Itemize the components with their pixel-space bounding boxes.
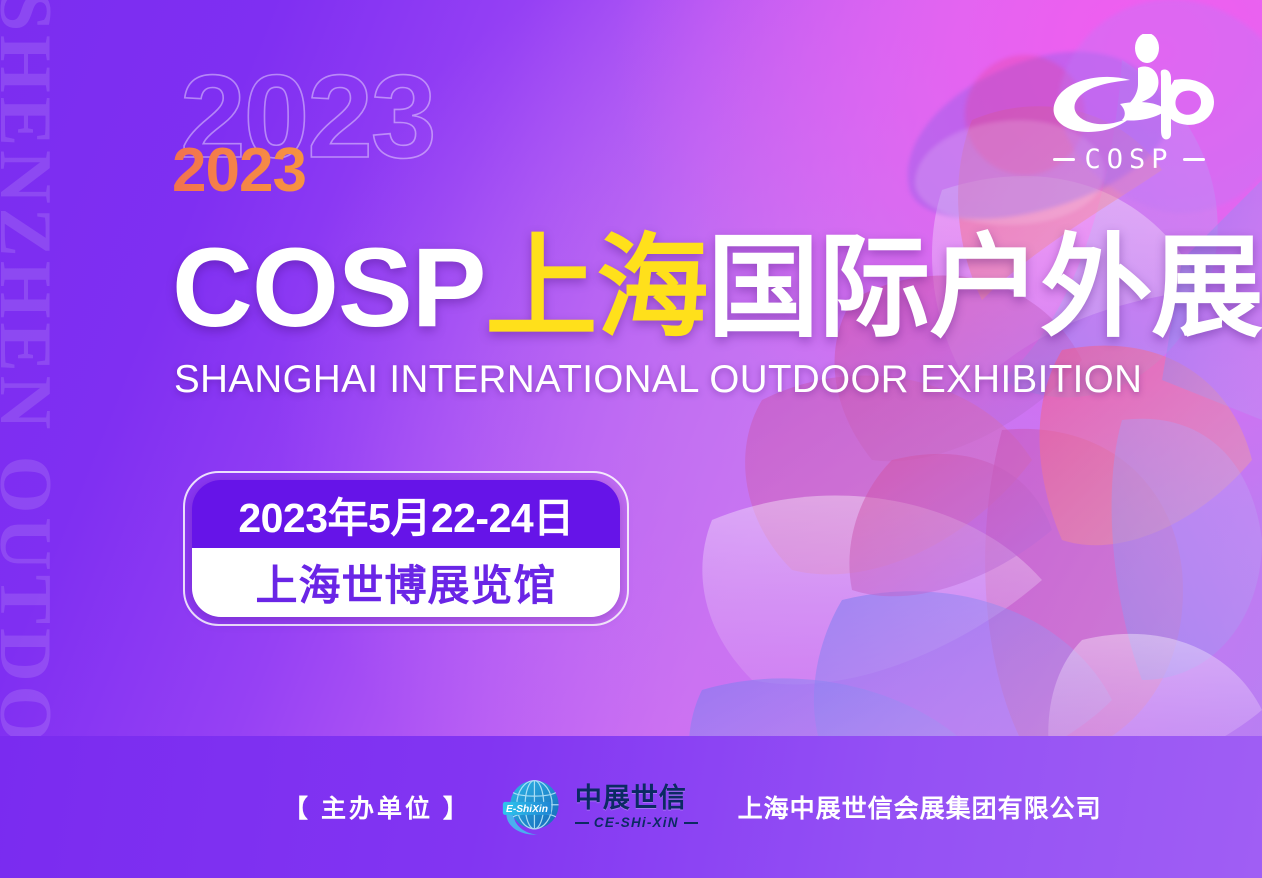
date-venue-card: 2023年5月22-24日 上海世博展览馆: [183, 471, 629, 626]
svg-text:E-ShiXin: E-ShiXin: [506, 803, 548, 814]
organizer-label: 【 主办单位 】: [283, 789, 471, 825]
organizer-name-en: CE-SHi-XiN: [594, 816, 679, 830]
wordmark-text: COSP: [1084, 144, 1173, 175]
event-venue-band: 上海世博展览馆: [192, 548, 620, 617]
year-solid-text: 2023: [172, 140, 306, 202]
org-en-dash-left: [575, 822, 589, 824]
title-highlight: 上海: [485, 225, 707, 350]
event-date: 2023年5月22-24日: [238, 484, 573, 544]
wordmark-dash-right: [1183, 158, 1205, 161]
poster-title: COSP上海国际户外展: [172, 232, 1262, 344]
cyclist-icon: [1034, 34, 1224, 142]
organizer-name-cn: 中展世信: [575, 785, 698, 812]
title-suffix: 国际户外展: [707, 225, 1262, 350]
event-poster: SHENZHEN OUTDOOR 2023 2023 COSP上海国际户外展 S…: [0, 0, 1262, 878]
footer-bar: 【 主办单位 】: [0, 736, 1262, 878]
wordmark-dash-left: [1053, 158, 1075, 161]
organizer-name-en-row: CE-SHi-XiN: [575, 816, 698, 830]
date-venue-card-inner: 2023年5月22-24日 上海世博展览馆: [192, 480, 620, 617]
organizer-names: 中展世信 CE-SHi-XiN: [575, 785, 698, 830]
title-prefix: COSP: [172, 225, 485, 350]
event-venue: 上海世博展览馆: [255, 552, 556, 613]
cosp-wordmark: COSP: [1034, 144, 1224, 175]
organizer-logo: E-ShiXin 中展世信 CE-SHi-XiN: [501, 775, 698, 840]
globe-icon: E-ShiXin: [501, 775, 566, 840]
poster-subtitle: SHANGHAI INTERNATIONAL OUTDOOR EXHIBITIO…: [174, 358, 1142, 402]
organizer-row: 【 主办单位 】: [283, 775, 1102, 840]
event-date-band: 2023年5月22-24日: [192, 480, 620, 548]
org-en-dash-right: [684, 822, 698, 824]
cosp-logo: COSP: [1034, 34, 1224, 184]
organizer-company: 上海中展世信会展集团有限公司: [738, 789, 1102, 825]
